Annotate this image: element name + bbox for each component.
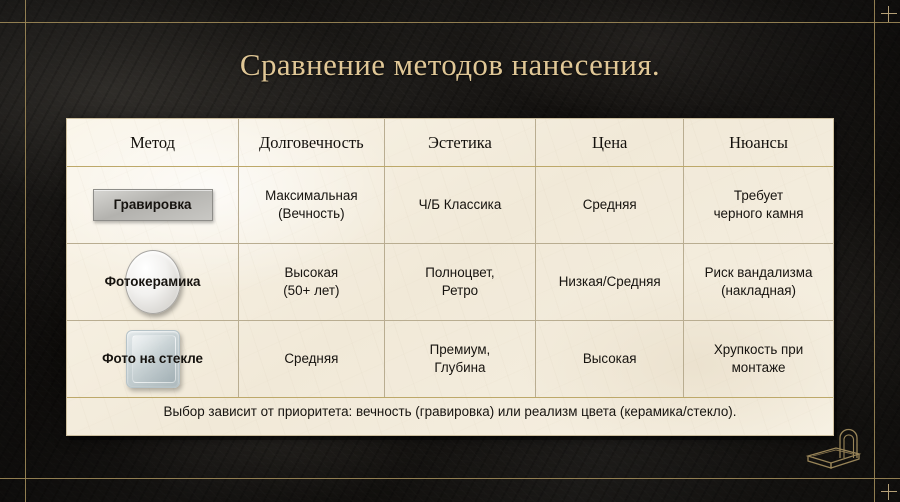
durability-line-1: Максимальная [265,188,357,203]
method-cell-engraving: Гравировка [67,167,239,244]
table-header-notes: Нюансы [684,119,833,167]
durability-cell: Средняя [239,321,385,398]
notes-cell: Риск вандализма (накладная) [684,244,833,321]
durability-line-2: (Вечность) [278,206,344,221]
durability-line-1: Высокая [284,265,338,280]
price-cell: Высокая [536,321,684,398]
notes-cell: Требует черного камня [684,167,833,244]
aesthetics-line-1: Полноцвет, [425,265,494,280]
notes-line-1: Хрупкость при [714,342,803,357]
aesthetics-line-1: Премиум, [430,342,491,357]
plus-mark-icon-top-right [881,6,897,22]
durability-line-1: Средняя [284,351,338,366]
notes-line-2: (накладная) [721,283,796,298]
table-row: Гравировка Максимальная (Вечность) Ч/Б К… [67,167,833,244]
slide: Сравнение методов нанесения. Метод Долго… [0,0,900,502]
notes-line-1: Требует [734,188,783,203]
method-cell-photoceramic: Фотокерамика [67,244,239,321]
durability-cell: Высокая (50+ лет) [239,244,385,321]
durability-line-2: (50+ лет) [283,283,339,298]
comparison-table: Метод Долговечность Эстетика Цена Нюансы… [67,119,833,398]
table-header-method: Метод [67,119,239,167]
notes-cell: Хрупкость при монтаже [684,321,833,398]
durability-cell: Максимальная (Вечность) [239,167,385,244]
aesthetics-cell: Премиум, Глубина [384,321,536,398]
aesthetics-line-2: Глубина [434,360,485,375]
frame-line-top [0,22,900,23]
table-row: Фото на стекле Средняя Премиум, Глубина … [67,321,833,398]
notes-line-1: Риск вандализма [705,265,813,280]
method-label: Гравировка [105,191,201,219]
aesthetics-cell: Ч/Б Классика [384,167,536,244]
comparison-panel: Метод Долговечность Эстетика Цена Нюансы… [66,118,834,436]
frame-line-bottom [0,478,900,479]
aesthetics-line-1: Ч/Б Классика [419,197,502,212]
method-cell-photo-on-glass: Фото на стекле [67,321,239,398]
table-header-durability: Долговечность [239,119,385,167]
price-cell: Средняя [536,167,684,244]
table-header-row: Метод Долговечность Эстетика Цена Нюансы [67,119,833,167]
notes-line-2: черного камня [714,206,804,221]
table-row: Фотокерамика Высокая (50+ лет) Полноцвет… [67,244,833,321]
method-label: Фото на стекле [93,345,212,373]
page-title: Сравнение методов нанесения. [0,47,900,83]
price-cell: Низкая/Средняя [536,244,684,321]
method-label: Фотокерамика [96,268,210,296]
aesthetics-cell: Полноцвет, Ретро [384,244,536,321]
table-header-aesthetics: Эстетика [384,119,536,167]
notes-line-2: монтаже [732,360,786,375]
gravestone-icon [802,418,864,474]
aesthetics-line-2: Ретро [442,283,478,298]
plus-mark-icon-bottom-right [881,484,897,500]
table-header-price: Цена [536,119,684,167]
panel-footer-note: Выбор зависит от приоритета: вечность (г… [67,387,833,435]
